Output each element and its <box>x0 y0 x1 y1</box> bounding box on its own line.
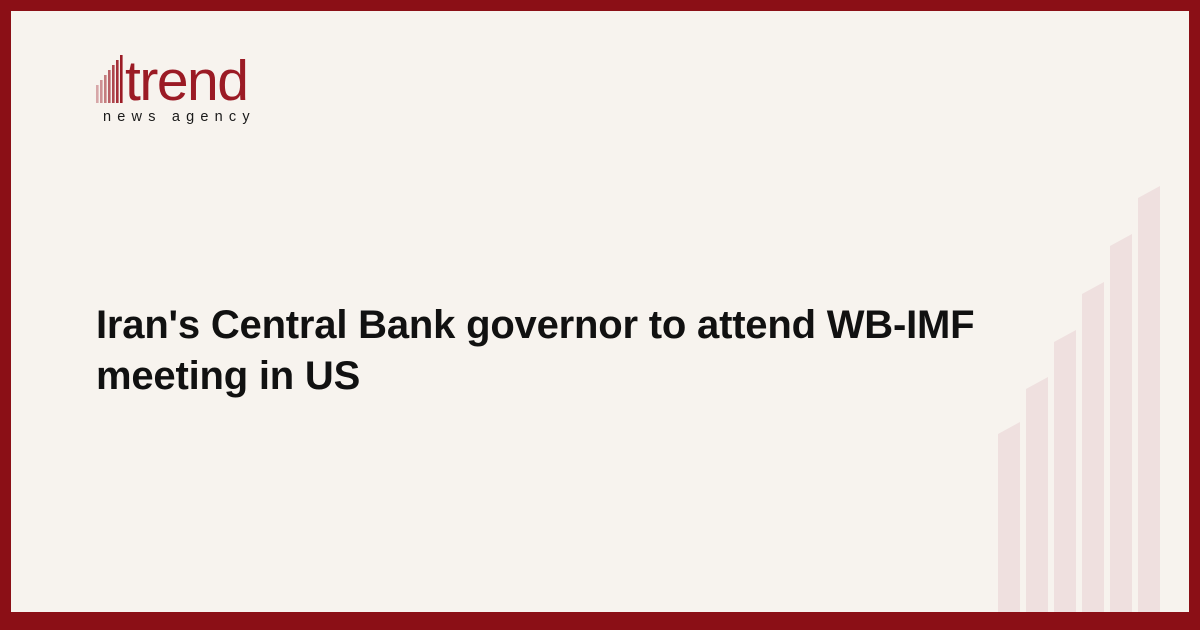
logo-wordmark: trend <box>125 55 247 107</box>
brand-logo[interactable]: trend news agency <box>96 46 396 125</box>
headline-text: Iran's Central Bank governor to attend W… <box>96 300 1096 402</box>
card-canvas: trend news agency Iran's Central Bank go… <box>11 11 1189 612</box>
logo-mark-row: trend <box>96 46 396 104</box>
ascending-bars-icon <box>96 55 124 103</box>
social-share-card: trend news agency Iran's Central Bank go… <box>0 0 1200 630</box>
